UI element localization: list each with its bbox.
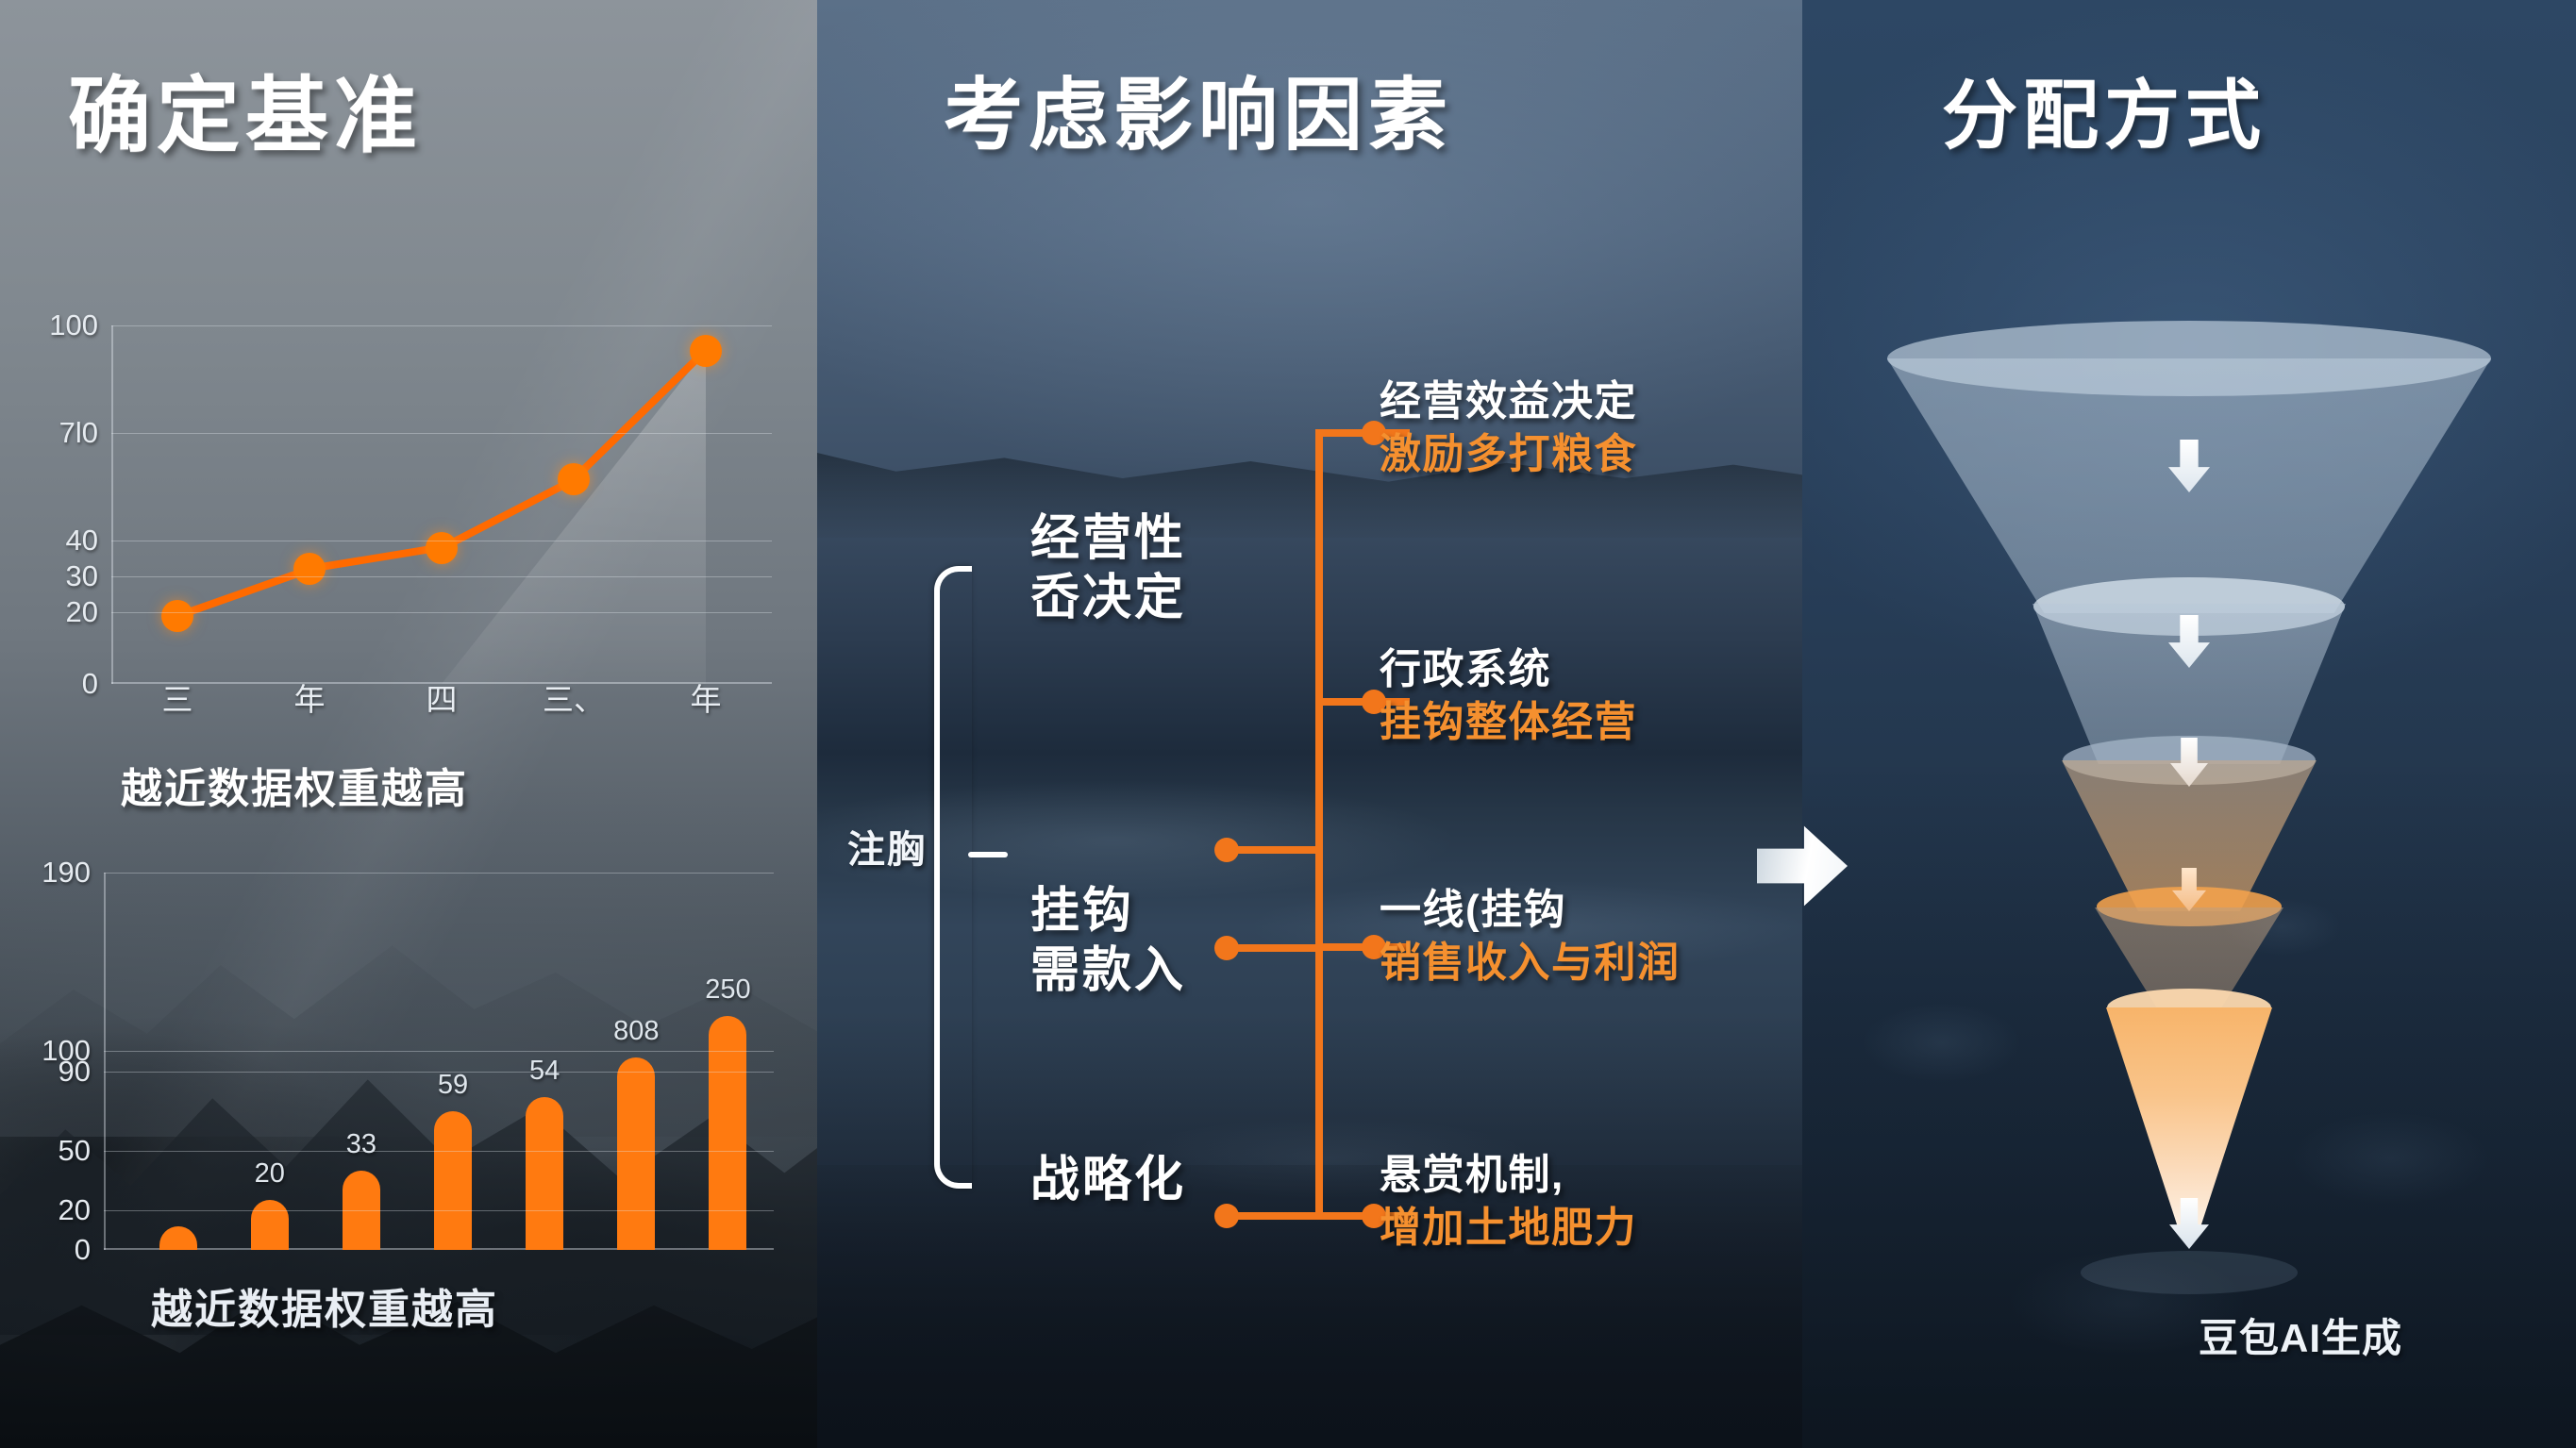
line-chart-data-point xyxy=(690,335,722,367)
page-title-mid: 考虑影响因素 xyxy=(944,52,1453,166)
line-chart-gridline xyxy=(111,541,772,541)
bar-chart-bar xyxy=(526,1097,563,1250)
branch-item-2: 行政系统 挂钩整体经营 xyxy=(1380,643,1637,750)
group-1-line2: 岙决定 xyxy=(1030,571,1186,625)
branch-2-line1: 行政系统 xyxy=(1380,643,1637,696)
bar-chart-gridline xyxy=(104,1072,774,1073)
line-chart-y-tick: 30 xyxy=(66,559,98,593)
bar-chart-y-tick: 90 xyxy=(59,1055,91,1089)
caption-upper: 越近数据权重越高 xyxy=(121,755,468,815)
branch-item-1: 经营效益决定 激励多打粮食 xyxy=(1380,375,1637,482)
line-chart-gridline xyxy=(111,433,772,434)
bar-chart-gridline xyxy=(104,1210,774,1211)
group-2-line1: 挂钩 xyxy=(1030,884,1134,939)
line-chart-data-point xyxy=(293,553,326,585)
line-chart-y-tick: 0 xyxy=(82,667,98,701)
page-title-left: 确定基准 xyxy=(68,49,423,169)
branch-item-3: 一线(挂钩 销售收入与利润 xyxy=(1380,884,1681,990)
bar-chart-bar xyxy=(617,1057,655,1250)
line-chart-gridline xyxy=(111,325,772,326)
line-chart-y-tick: 100 xyxy=(49,308,98,342)
bar-chart-plot-area: 20335954808250 xyxy=(104,873,774,1250)
group-2-line2: 需款入 xyxy=(1030,943,1186,998)
caption-lower: 越近数据权重越高 xyxy=(151,1275,498,1336)
bar-chart-bar xyxy=(251,1200,289,1250)
line-chart-gridline xyxy=(111,576,772,577)
line-chart-x-tick: 年 xyxy=(691,674,722,720)
bar-chart-value-label: 808 xyxy=(613,1016,659,1047)
bar-chart-value-label: 20 xyxy=(255,1158,285,1190)
node-group-1 xyxy=(1214,838,1239,862)
watermark-label: 豆包AI生成 xyxy=(2199,1307,2402,1364)
branch-1-line2: 激励多打粮食 xyxy=(1380,428,1637,481)
line-chart-x-tick: 四 xyxy=(427,674,458,720)
bar-chart-y-tick: 20 xyxy=(59,1193,91,1227)
line-chart-data-point xyxy=(426,532,458,564)
line-chart-data-point xyxy=(161,600,193,632)
bar-chart-gridline xyxy=(104,1051,774,1052)
connector-spine xyxy=(1315,429,1323,1212)
branch-4-line1: 悬赏机制, xyxy=(1380,1149,1637,1202)
bar-chart-bar xyxy=(434,1111,472,1250)
branch-3-line1: 一线(挂钩 xyxy=(1380,884,1681,937)
lake-foreground xyxy=(817,1165,1802,1448)
bar-chart-y-tick: 50 xyxy=(59,1134,91,1168)
group-3-line1: 战略化 xyxy=(1030,1153,1186,1207)
bar-chart-value-label: 250 xyxy=(705,974,750,1006)
bar-chart-bar xyxy=(159,1226,197,1250)
line-chart-x-tick: 三、 xyxy=(543,674,605,720)
line-chart-y-tick: 40 xyxy=(66,524,98,558)
line-chart-segment xyxy=(309,544,442,574)
branch-3-line2: 销售收入与利润 xyxy=(1380,937,1681,990)
branch-4-line2: 增加土地肥力 xyxy=(1380,1202,1637,1255)
brace-label: 注胸 xyxy=(847,819,927,874)
grouping-brace xyxy=(934,566,972,1189)
branch-1-line1: 经营效益决定 xyxy=(1380,375,1637,428)
bar-chart-y-tick: 190 xyxy=(42,856,91,890)
line-chart-y-tick: 20 xyxy=(66,595,98,629)
panel-determine-baseline: 确定基准 1007l04030200 三年四三、年 越近数据权重越高 20335… xyxy=(0,0,817,1448)
line-chart-area-fill xyxy=(442,351,706,684)
group-label-3: 战略化 xyxy=(1030,1151,1186,1210)
branch-item-4: 悬赏机制, 增加土地肥力 xyxy=(1380,1149,1637,1256)
branch-2-line2: 挂钩整体经营 xyxy=(1380,696,1637,749)
funnel-tip xyxy=(2106,1007,2272,1226)
bar-chart-y-tick: 0 xyxy=(75,1233,91,1267)
group-1-line1: 经营性 xyxy=(1030,511,1186,566)
line-chart: 1007l04030200 xyxy=(111,325,772,684)
line-chart-x-tick: 年 xyxy=(294,674,326,720)
line-chart-x-tick: 三 xyxy=(162,674,193,720)
node-group-2 xyxy=(1214,936,1239,960)
line-chart-data-point xyxy=(558,463,590,495)
bar-chart-gridline xyxy=(104,1151,774,1152)
line-chart-y-tick: 7l0 xyxy=(59,416,98,450)
page-title-right: 分配方式 xyxy=(1942,55,2267,164)
bar-chart-value-label: 33 xyxy=(346,1129,376,1160)
grouping-brace-pointer xyxy=(968,852,1008,857)
node-group-3 xyxy=(1214,1204,1239,1228)
bar-chart: 20335954808250 1901009050200 xyxy=(104,873,774,1250)
funnel-shadow-base xyxy=(2081,1251,2298,1294)
group-label-1: 经营性 岙决定 xyxy=(1030,509,1186,629)
funnel-diagram xyxy=(1854,321,2524,1273)
bar-chart-value-label: 59 xyxy=(438,1070,468,1101)
line-chart-gridline xyxy=(111,612,772,613)
line-chart-plot-area xyxy=(111,325,772,684)
group-label-2: 挂钩 需款入 xyxy=(1030,882,1186,1002)
infographic-canvas: 确定基准 1007l04030200 三年四三、年 越近数据权重越高 20335… xyxy=(0,0,2576,1448)
bar-chart-gridline xyxy=(104,873,774,874)
